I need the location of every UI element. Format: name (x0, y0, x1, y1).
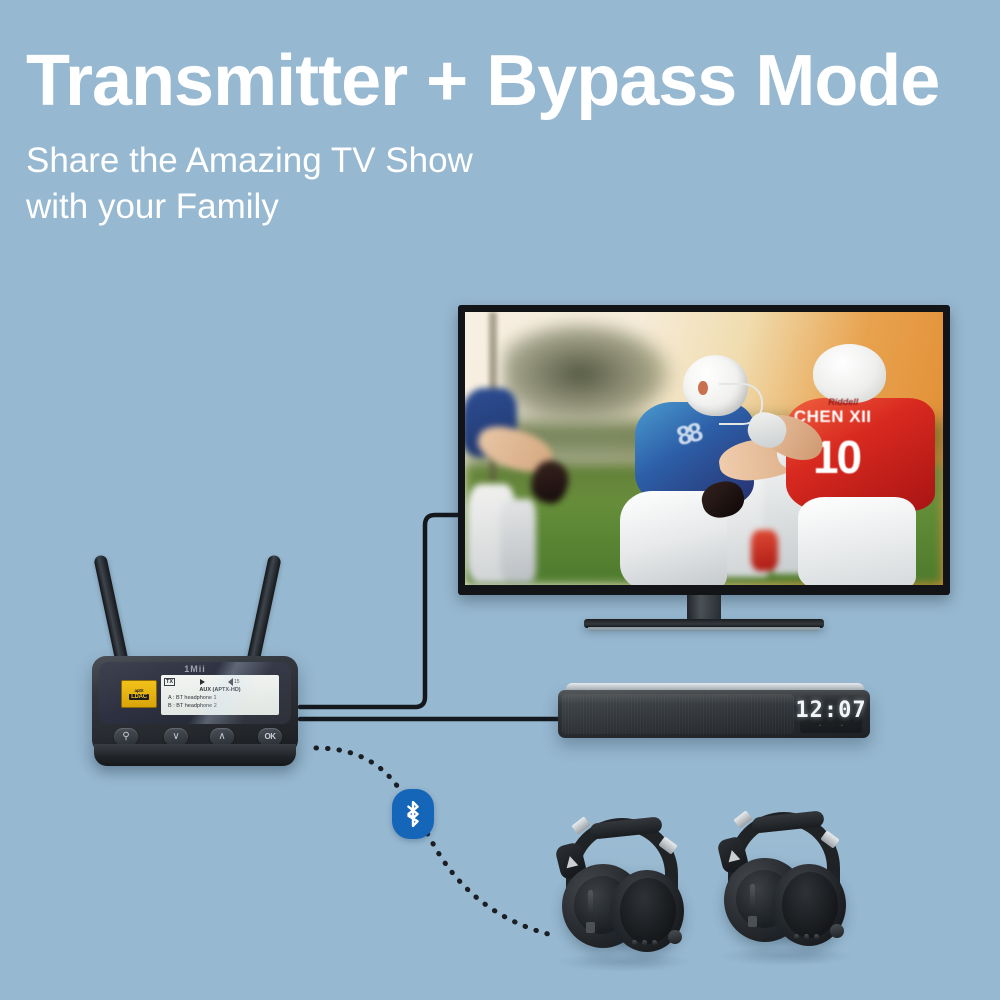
page-subtitle: Share the Amazing TV Show with your Fami… (26, 138, 726, 230)
lcd-screen: TX 15 AUX (APTX-HD) A : BT headphone 1 B… (161, 675, 279, 715)
brand-triangle-logo (564, 854, 578, 868)
brand-triangle-logo (726, 848, 740, 862)
indicator-left: ▫ (819, 723, 821, 729)
chevron-up-icon: ∧ (218, 732, 225, 742)
red-jersey-number: 10 (813, 433, 928, 482)
transmitter-base (94, 744, 296, 766)
tv: 88 CHEN XII 10 Riddell (458, 305, 950, 595)
transmitter-body: 1Mii aptX LDAC TX 15 AUX (APTX-HD) (92, 656, 298, 754)
lcd-mode-badge: TX (164, 678, 175, 686)
lcd-source-line: AUX (APTX-HD) (164, 686, 276, 694)
clock-readout: 12:07 (795, 700, 866, 722)
power-button[interactable] (668, 930, 682, 944)
scene-player-red: CHEN XII 10 Riddell (771, 339, 943, 585)
earcup-marking (586, 922, 595, 933)
earcup-seam (588, 890, 593, 914)
soundbar-body: 12:07 ▫ ▫ (558, 690, 870, 738)
bluetooth-transmitter: 1Mii aptX LDAC TX 15 AUX (APTX-HD) (92, 548, 308, 770)
tv-stand-neck (687, 595, 721, 621)
volume-value: 15 (234, 679, 240, 685)
chevron-down-icon: ∨ (172, 732, 179, 742)
lcd-device-a: A : BT headphone 1 (164, 694, 276, 702)
ldac-label: LDAC (129, 694, 149, 700)
bluetooth-badge (392, 789, 434, 839)
tv-stand-base-edge (588, 627, 820, 631)
display-indicators: ▫ ▫ (819, 723, 843, 729)
ok-label: OK (265, 733, 276, 741)
headphone-2 (710, 812, 860, 962)
headphone-1 (548, 818, 698, 968)
bluetooth-icon (402, 799, 424, 829)
tv-screen: 88 CHEN XII 10 Riddell (465, 312, 943, 585)
aptx-label: aptX (135, 688, 144, 693)
soundbar-speaker-grille (562, 694, 794, 734)
codec-badge: aptX LDAC (121, 680, 157, 708)
earcup-seam (750, 884, 755, 908)
lcd-device-b: B : BT headphone 2 (164, 702, 276, 710)
earcup-marking (748, 916, 757, 927)
soundbar: 12:07 ▫ ▫ (558, 683, 870, 741)
power-button[interactable] (830, 924, 844, 938)
subtitle-line-1: Share the Amazing TV Show (26, 138, 726, 184)
lcd-status-row: TX 15 (164, 677, 276, 686)
helmet-brand-text: Riddell (828, 393, 885, 410)
speaker-icon (228, 678, 233, 686)
search-icon: ⚲ (122, 732, 129, 742)
subtitle-line-2: with your Family (26, 184, 726, 230)
play-icon (200, 679, 205, 685)
soundbar-display: 12:07 ▫ ▫ (800, 695, 862, 733)
scene-player-left (465, 388, 565, 579)
brand-logo: 1Mii (99, 664, 291, 674)
volume-indicator: 15 (228, 678, 240, 686)
transmitter-front-panel: 1Mii aptX LDAC TX 15 AUX (APTX-HD) (99, 662, 291, 724)
page-title: Transmitter + Bypass Mode (26, 42, 976, 120)
poster-canvas: Transmitter + Bypass Mode Share the Amaz… (0, 0, 1000, 1000)
indicator-right: ▫ (841, 723, 843, 729)
